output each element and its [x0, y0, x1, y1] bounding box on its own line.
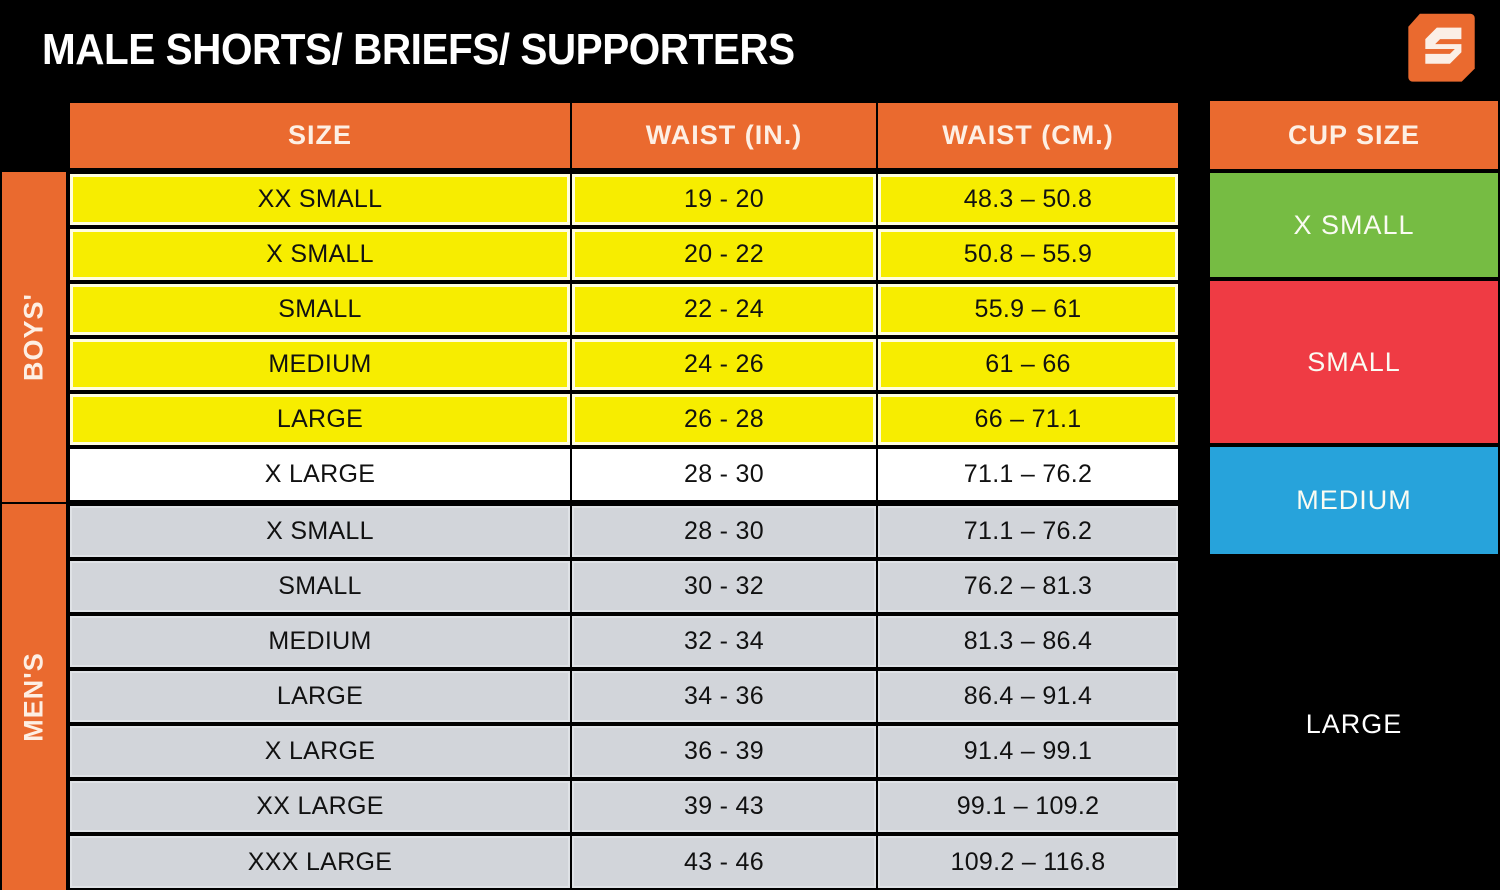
cell-waist-in: 34 - 36	[570, 669, 876, 724]
size-table: BOYS' MEN'S SIZE WAIST (IN.) WAIST (CM.)…	[0, 101, 1180, 890]
cell-waist-in: 43 - 46	[570, 834, 876, 890]
cell-waist-cm: 99.1 – 109.2	[876, 779, 1180, 834]
cell-size: LARGE	[68, 669, 570, 724]
cell-waist-cm: 66 – 71.1	[876, 392, 1180, 447]
cell-waist-cm: 71.1 – 76.2	[876, 504, 1180, 559]
table-row: SMALL 22 - 24 55.9 – 61	[68, 282, 1180, 337]
group-label-mens: MEN'S	[2, 504, 66, 890]
table-row: X SMALL 20 - 22 50.8 – 55.9	[68, 227, 1180, 282]
cell-waist-cm: 76.2 – 81.3	[876, 559, 1180, 614]
cell-waist-cm: 50.8 – 55.9	[876, 227, 1180, 282]
page-title: MALE SHORTS/ BRIEFS/ SUPPORTERS	[42, 24, 795, 76]
cell-waist-in: 28 - 30	[570, 447, 876, 502]
cell-waist-cm: 61 – 66	[876, 337, 1180, 392]
shock-doctor-logo-icon	[1404, 8, 1486, 90]
cup-size-medium: MEDIUM	[1210, 447, 1498, 554]
cell-waist-in: 28 - 30	[570, 504, 876, 559]
cell-size: X LARGE	[68, 447, 570, 502]
cell-waist-in: 24 - 26	[570, 337, 876, 392]
cell-size: XX LARGE	[68, 779, 570, 834]
cell-waist-cm: 48.3 – 50.8	[876, 172, 1180, 227]
cell-waist-in: 22 - 24	[570, 282, 876, 337]
group-label-mens-text: MEN'S	[19, 652, 50, 741]
column-header-waist-cm: WAIST (CM.)	[876, 101, 1180, 170]
table-header-row: SIZE WAIST (IN.) WAIST (CM.)	[68, 101, 1180, 170]
table-row: MEDIUM 32 - 34 81.3 – 86.4	[68, 614, 1180, 669]
cell-waist-in: 39 - 43	[570, 779, 876, 834]
cell-waist-cm: 86.4 – 91.4	[876, 669, 1180, 724]
group-label-boys: BOYS'	[2, 172, 66, 502]
cup-size-x-small: X SMALL	[1210, 173, 1498, 277]
cell-waist-in: 20 - 22	[570, 227, 876, 282]
cell-waist-in: 32 - 34	[570, 614, 876, 669]
cell-size: X LARGE	[68, 724, 570, 779]
cell-size: X SMALL	[68, 504, 570, 559]
cell-waist-cm: 81.3 – 86.4	[876, 614, 1180, 669]
cell-waist-in: 30 - 32	[570, 559, 876, 614]
cell-waist-cm: 91.4 – 99.1	[876, 724, 1180, 779]
cell-size: SMALL	[68, 282, 570, 337]
title-bar: MALE SHORTS/ BRIEFS/ SUPPORTERS	[0, 0, 1500, 101]
table-row: X LARGE 36 - 39 91.4 – 99.1	[68, 724, 1180, 779]
table-row: X LARGE 28 - 30 71.1 – 76.2	[68, 447, 1180, 502]
cell-waist-in: 26 - 28	[570, 392, 876, 447]
cup-size-small: SMALL	[1210, 281, 1498, 443]
column-header-size: SIZE	[68, 101, 570, 170]
table-row: MEDIUM 24 - 26 61 – 66	[68, 337, 1180, 392]
table-row: XX LARGE 39 - 43 99.1 – 109.2	[68, 779, 1180, 834]
cup-size-header: CUP SIZE	[1210, 101, 1498, 169]
table-row: LARGE 34 - 36 86.4 – 91.4	[68, 669, 1180, 724]
cell-waist-cm: 109.2 – 116.8	[876, 834, 1180, 890]
cell-size: LARGE	[68, 392, 570, 447]
column-header-waist-in: WAIST (IN.)	[570, 101, 876, 170]
cell-size: XX SMALL	[68, 172, 570, 227]
cell-size: X SMALL	[68, 227, 570, 282]
cell-waist-in: 36 - 39	[570, 724, 876, 779]
cell-waist-in: 19 - 20	[570, 172, 876, 227]
table-row: XXX LARGE 43 - 46 109.2 – 116.8	[68, 834, 1180, 890]
table-row: X SMALL 28 - 30 71.1 – 76.2	[68, 504, 1180, 559]
table-row: SMALL 30 - 32 76.2 – 81.3	[68, 559, 1180, 614]
cup-size-large: LARGE	[1210, 558, 1498, 890]
cell-size: XXX LARGE	[68, 834, 570, 890]
cup-size-panel: CUP SIZE X SMALL SMALL MEDIUM LARGE	[1210, 101, 1498, 890]
cell-waist-cm: 55.9 – 61	[876, 282, 1180, 337]
cell-size: MEDIUM	[68, 337, 570, 392]
table-row: LARGE 26 - 28 66 – 71.1	[68, 392, 1180, 447]
cell-size: MEDIUM	[68, 614, 570, 669]
cell-size: SMALL	[68, 559, 570, 614]
table-row: XX SMALL 19 - 20 48.3 – 50.8	[68, 172, 1180, 227]
group-label-boys-text: BOYS'	[19, 293, 50, 381]
cell-waist-cm: 71.1 – 76.2	[876, 447, 1180, 502]
